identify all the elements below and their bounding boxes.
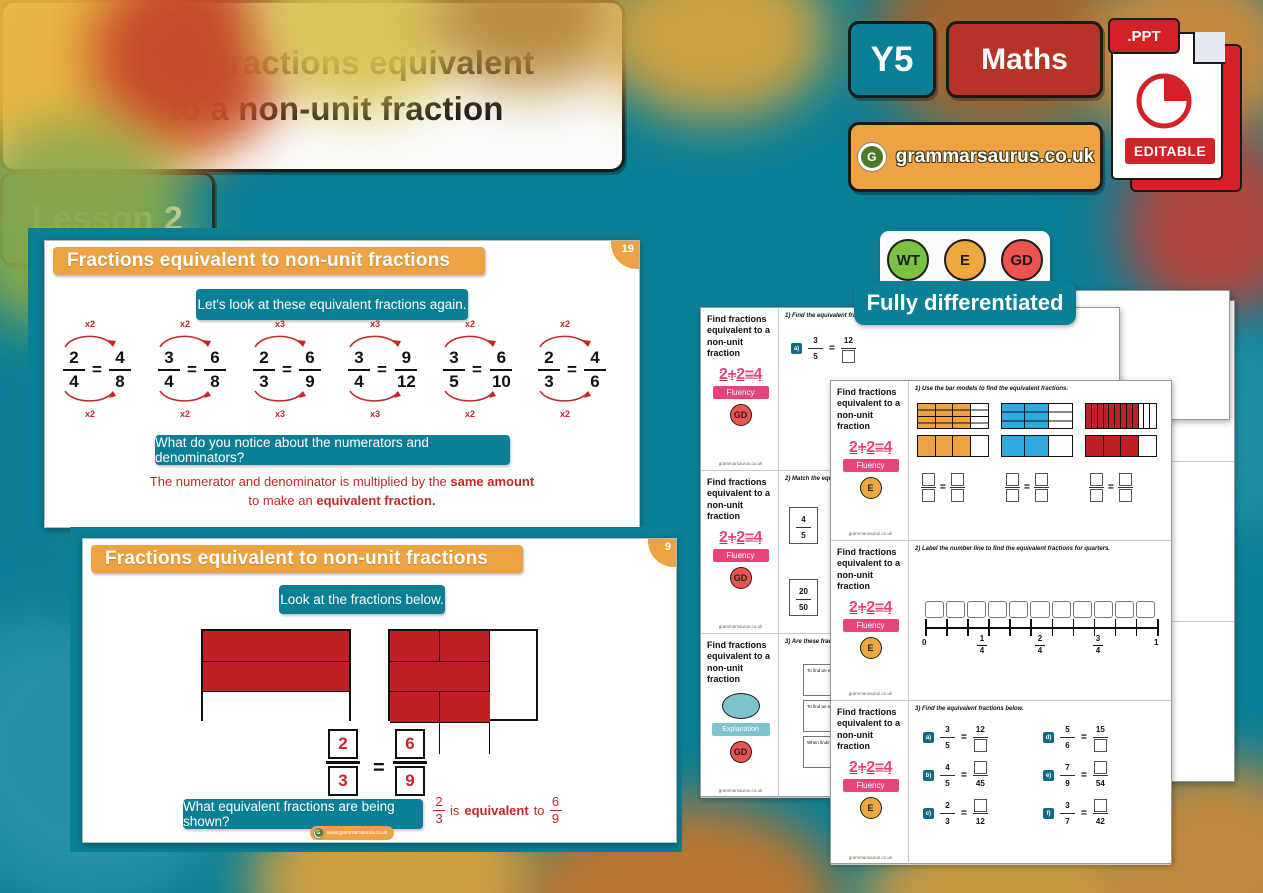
- exercise-fraction-left-numerator: 4: [945, 761, 949, 774]
- number-line-box[interactable]: [1115, 601, 1134, 618]
- worksheet-title-line3: non-unit fraction: [837, 410, 904, 433]
- slide2-question-text: What equivalent fractions are being show…: [183, 799, 423, 829]
- answer-l1b: same amount: [450, 474, 534, 489]
- fraction-equation: 23=69: [253, 349, 321, 391]
- answer-fraction-right-numerator-box[interactable]: [951, 473, 964, 486]
- fraction-left-denominator: 3: [541, 373, 556, 391]
- number-line-tick: [1052, 619, 1054, 636]
- answer-l2a: to make an: [248, 493, 316, 508]
- worksheet-title-line1: Find fractions: [707, 640, 767, 651]
- number-line-tick: [925, 619, 927, 636]
- answer-fraction-left-denominator-box[interactable]: [922, 489, 935, 502]
- fraction-equation: 34=912: [348, 349, 419, 391]
- fluency-tag: Fluency: [843, 619, 899, 632]
- number-line-fraction: 24: [1035, 635, 1045, 656]
- fraction-equation: 34=68: [158, 349, 226, 391]
- match-fraction-b-value-bar: [796, 599, 811, 600]
- bar-cell: [1139, 436, 1156, 456]
- bar-cell: [390, 631, 440, 662]
- answer-fraction-left-numerator-box[interactable]: [1006, 473, 1019, 486]
- exercise-fraction-left-denominator: 6: [1065, 739, 1069, 752]
- bar-cell: [1104, 436, 1122, 456]
- slide2-prompt-text: Look at the fractions below.: [280, 592, 444, 607]
- fraction-right-numerator: 4: [587, 349, 602, 367]
- worksheet-equation-art: 2+2=4: [849, 599, 892, 617]
- exercise-fraction-right: 12: [973, 799, 988, 828]
- exercise-fraction-left: 45: [940, 761, 955, 790]
- bar-model-right: [388, 629, 538, 721]
- worksheet-header-panel: Find fractionsequivalent to anon-unit fr…: [701, 634, 779, 797]
- fraction-left-bar: [253, 369, 275, 371]
- exercise-fraction-left-bar: [940, 737, 955, 738]
- number-line-box[interactable]: [967, 601, 986, 618]
- answer-group: =: [921, 473, 965, 502]
- bar-cell: [1025, 404, 1048, 428]
- fraction-right-numerator: 9: [399, 349, 414, 367]
- worksheet-title-line2: equivalent to a: [707, 325, 770, 336]
- number-line-box[interactable]: [1052, 601, 1071, 618]
- match-fraction-b-value-denominator: 50: [799, 601, 808, 614]
- number-line-tick: [1073, 619, 1075, 636]
- exercise-label: e): [1043, 770, 1054, 781]
- equals-sign: =: [961, 732, 967, 743]
- number-line-label: 1: [1154, 638, 1158, 647]
- worksheet-row: Find fractionsequivalent to anon-unit fr…: [831, 701, 1171, 865]
- equals-sign: =: [1081, 808, 1087, 819]
- exercise-fraction-right-numerator: 12: [844, 334, 853, 347]
- number-line-box[interactable]: [925, 601, 944, 618]
- match-fraction-a-value: 45: [796, 513, 811, 542]
- exercise-fraction-right: 12: [841, 334, 856, 363]
- exercise-fraction-left-bar: [940, 813, 955, 814]
- number-line-box[interactable]: [946, 601, 965, 618]
- level-coin-GD: GD: [730, 741, 752, 763]
- fraction-left-bar: [348, 369, 370, 371]
- exercise-fraction-right: 15: [1093, 723, 1108, 752]
- answer-fraction-right-bar: [1034, 487, 1049, 488]
- bar-cell: [1121, 436, 1139, 456]
- exercise-fraction-right-numerator-box[interactable]: [1094, 799, 1107, 812]
- worksheet-content: 2) Label the number line to find the equ…: [909, 541, 1171, 700]
- fraction-right-numerator: 4: [112, 349, 127, 367]
- fraction-left-numerator: 3: [351, 349, 366, 367]
- worksheet-title-line3: non-unit fraction: [837, 570, 904, 593]
- fraction-left-bar: [63, 369, 85, 371]
- bar-cell: [1150, 404, 1156, 428]
- worksheet-question-text: 2) Label the number line to find the equ…: [915, 546, 1165, 552]
- fraction-right-denominator: 12: [394, 373, 419, 391]
- fraction-right: 68: [204, 349, 226, 391]
- fraction-equation: 35=610: [443, 349, 514, 391]
- fraction-left-denominator: 4: [66, 373, 81, 391]
- worksheet-footer-brand: grammarsaurus.co.uk: [719, 788, 763, 793]
- fluency-tag: Fluency: [843, 779, 899, 792]
- year-group-label: Y5: [871, 40, 914, 80]
- numerator: 2: [1038, 635, 1042, 644]
- answer-fraction-left: [1005, 473, 1020, 502]
- fraction-left-denominator: 4: [161, 373, 176, 391]
- answer-fraction-left-numerator: 2: [435, 795, 442, 809]
- slide-preview-19[interactable]: Fractions equivalent to non-unit fractio…: [44, 240, 640, 528]
- exercise-fraction-right: 42: [1093, 799, 1108, 828]
- fraction-equation: 23=46: [538, 349, 606, 391]
- footer-logo-icon: G: [313, 828, 324, 839]
- exercise-fraction-right-numerator: 12: [976, 723, 985, 736]
- fraction-right-numerator: 6: [494, 349, 509, 367]
- exercise-fraction-right: 45: [973, 761, 988, 790]
- answer-fraction-right-bar: [950, 487, 965, 488]
- fraction-left-denominator: 4: [351, 373, 366, 391]
- bar-cell: [1002, 436, 1025, 456]
- exercise-item: c)23=12: [923, 799, 988, 828]
- answer-fraction-right-denominator-box[interactable]: [1119, 489, 1132, 502]
- exercise-fraction-left: 35: [940, 723, 955, 752]
- subject-badge: Maths: [946, 21, 1103, 98]
- fraction-left: 23: [538, 349, 560, 391]
- exercise-fraction-right-numerator-box[interactable]: [974, 799, 987, 812]
- multiplier-top: x2: [560, 319, 570, 329]
- exercise-fraction-left-numerator: 3: [1065, 799, 1069, 812]
- exercise-fraction-left: 37: [1060, 799, 1075, 828]
- slide1-prompt-text: Let's look at these equivalent fractions…: [198, 297, 467, 312]
- answer-fraction-right-numerator: 6: [552, 795, 559, 809]
- bar-cell: [203, 662, 349, 693]
- number-line-box[interactable]: [1009, 601, 1028, 618]
- exercise-fraction-left-numerator: 3: [945, 723, 949, 736]
- answer-fraction-right-denominator-box[interactable]: [1035, 489, 1048, 502]
- worksheet-question-text: 3) Find the equivalent fractions below.: [915, 706, 1165, 712]
- number-line-box[interactable]: [1094, 601, 1113, 618]
- worksheet-footer-brand: grammarsaurus.co.uk: [719, 624, 763, 629]
- exercise-item: e)79=54: [1043, 761, 1108, 790]
- worksheet-content: 3) Find the equivalent fractions below.a…: [909, 701, 1171, 864]
- bar-cell: [971, 404, 988, 428]
- exercise-fraction-right-denominator: 12: [976, 815, 985, 828]
- worksheet-content: 1) Use the bar models to find the equiva…: [909, 381, 1171, 540]
- fraction-right: 610: [489, 349, 514, 391]
- level-coin-E: E: [860, 797, 882, 819]
- answer-l1a: The numerator and denominator is multipl…: [150, 474, 451, 489]
- fluency-tag: Fluency: [713, 386, 769, 399]
- equals-sign: =: [940, 482, 946, 493]
- bar-cell: [1049, 404, 1072, 428]
- worksheet-equation-art: 2+2=4: [719, 529, 762, 547]
- level-badge-WT: WT: [887, 239, 929, 281]
- worksheet-title-line3: non-unit fraction: [837, 730, 904, 753]
- number-line-tick: [946, 619, 948, 636]
- slide1-question-text: What do you notice about the numerators …: [155, 435, 510, 465]
- slide2-prompt: Look at the fractions below.: [279, 585, 445, 614]
- number-line-tick: [1030, 619, 1032, 636]
- exercise-fraction-left-bar: [940, 775, 955, 776]
- exercise-fraction-right-bar: [973, 775, 988, 776]
- equals-sign: =: [1024, 482, 1030, 493]
- bar-cell: [953, 436, 971, 456]
- multiplier-top: x2: [465, 319, 475, 329]
- bar-cell: [440, 692, 490, 723]
- equals-sign: =: [961, 808, 967, 819]
- exercise-fraction-left-denominator: 5: [945, 739, 949, 752]
- bar-cell: [918, 404, 936, 428]
- worksheet-title-line1: Find fractions: [707, 314, 767, 325]
- differentiation-label: Fully differentiated: [867, 290, 1064, 316]
- worksheet-equation-art: 2+2=4: [719, 366, 762, 384]
- answer-fraction-left-bar: [1005, 487, 1020, 488]
- answer-fraction-right-numerator-box[interactable]: [1035, 473, 1048, 486]
- slide1-answer: The numerator and denominator is multipl…: [45, 473, 639, 511]
- bar-model: [1085, 403, 1157, 429]
- exercise-fraction-right-denominator: 54: [1096, 777, 1105, 790]
- slide2-title: Fractions equivalent to non-unit fractio…: [105, 548, 488, 570]
- number-line-box[interactable]: [1030, 601, 1049, 618]
- slide1-page-corner: 19: [611, 241, 639, 269]
- exercise-fraction-left-numerator: 7: [1065, 761, 1069, 774]
- bar-cell: [390, 692, 440, 723]
- fraction-right-bar: [109, 369, 131, 371]
- multiplier-bottom: x3: [275, 409, 285, 419]
- fraction-right-denominator: 6: [587, 373, 602, 391]
- exercise-fraction-left-denominator: 3: [945, 815, 949, 828]
- answer-fraction-right: [950, 473, 965, 502]
- number-line-label: 0: [922, 638, 926, 647]
- equals-sign: =: [282, 360, 292, 380]
- fraction-right-bar: [490, 369, 512, 371]
- exercise-fraction-left-bar: [1060, 813, 1075, 814]
- slide2-answer: 23is equivalent to69: [433, 795, 562, 826]
- slide2-question: What equivalent fractions are being show…: [183, 799, 423, 829]
- number-line-tick: [1094, 619, 1096, 636]
- differentiation-label-pill: Fully differentiated: [854, 281, 1076, 325]
- exercise-item: d)56=15: [1043, 723, 1108, 752]
- worksheet-header-panel: Find fractionsequivalent to anon-unit fr…: [831, 381, 909, 540]
- match-fraction-b: 2050: [789, 579, 818, 616]
- level-badge-GD: GD: [1001, 239, 1043, 281]
- exercise-fraction-right-denominator-box[interactable]: [974, 739, 987, 752]
- answer-fraction-left: [921, 473, 936, 502]
- exercise-fraction-right-numerator: 15: [1096, 723, 1105, 736]
- slide-preview-9[interactable]: Fractions equivalent to non-unit fractio…: [82, 538, 677, 843]
- boxed-fraction-left: 23: [326, 729, 360, 796]
- bar-model: [1085, 435, 1157, 457]
- exercise-fraction-right-denominator-box[interactable]: [842, 350, 855, 363]
- fraction-left-denominator: 5: [446, 373, 461, 391]
- exercise-item: b)45=45: [923, 761, 988, 790]
- fraction-right-bar: [584, 369, 606, 371]
- slide1-title-banner: Fractions equivalent to non-unit fractio…: [53, 247, 485, 275]
- fraction-right: 48: [109, 349, 131, 391]
- boxed-fraction-right-bar: [393, 761, 427, 764]
- answer-fraction-right: [1034, 473, 1049, 502]
- answer-fraction-left-denominator-box[interactable]: [1090, 489, 1103, 502]
- worksheet-footer-brand: grammarsaurus.co.uk: [849, 691, 893, 696]
- fraction-right: 912: [394, 349, 419, 391]
- answer-fraction-left-numerator-box[interactable]: [922, 473, 935, 486]
- fraction-left-bar: [443, 369, 465, 371]
- slide2-page-corner: 9: [648, 539, 676, 567]
- bar-cell: [1086, 436, 1104, 456]
- answer-pre: is: [450, 803, 459, 818]
- worksheet-differentiated-e[interactable]: Find fractionsequivalent to anon-unit fr…: [830, 380, 1172, 864]
- exercise-label: b): [923, 770, 934, 781]
- file-icon-fold: [1193, 32, 1225, 64]
- boxed-fraction-left-denominator: 3: [328, 766, 358, 796]
- fraction-right: 69: [299, 349, 321, 391]
- bar-cell: [936, 404, 954, 428]
- equals-sign: =: [1081, 770, 1087, 781]
- boxed-fraction-left-bar: [326, 761, 360, 764]
- grammarsaurus-logo-icon: G: [857, 142, 887, 172]
- answer-fraction-left-denominator-box[interactable]: [1006, 489, 1019, 502]
- worksheet-header-panel: Find fractionsequivalent to anon-unit fr…: [831, 701, 909, 864]
- slide2-equals-sign: =: [373, 757, 385, 780]
- exercise-fraction-left-denominator: 5: [945, 777, 949, 790]
- number-line-box[interactable]: [1136, 601, 1155, 618]
- pie-chart-icon: [1133, 68, 1203, 130]
- bar-model: [1001, 435, 1073, 457]
- exercise-fraction-left-bar: [808, 348, 823, 349]
- exercise-fraction-right-denominator: 45: [976, 777, 985, 790]
- worksheet-footer-brand: grammarsaurus.co.uk: [849, 855, 893, 860]
- boxed-fraction-right-numerator: 6: [395, 729, 425, 759]
- exercise-fraction-right-numerator-box[interactable]: [974, 761, 987, 774]
- equals-sign: =: [829, 343, 835, 354]
- fraction-left-bar: [158, 369, 180, 371]
- fraction-right-bar: [299, 369, 321, 371]
- subject-label: Maths: [981, 43, 1068, 77]
- multiplier-bottom: x2: [560, 409, 570, 419]
- match-fraction-b-value-numerator: 20: [799, 585, 808, 598]
- fraction-right-bar: [395, 369, 417, 371]
- fluency-tag: Fluency: [713, 549, 769, 562]
- level-coin-E: E: [860, 637, 882, 659]
- fraction-left-numerator: 2: [541, 349, 556, 367]
- bar-cell: [203, 631, 349, 662]
- fraction-left: 34: [348, 349, 370, 391]
- multiplier-bottom: x3: [370, 409, 380, 419]
- answer-fraction-right-numerator-box[interactable]: [1119, 473, 1132, 486]
- worksheet-title-line2: equivalent to a: [837, 718, 900, 729]
- worksheet-equation-art: 2+2=4: [849, 439, 892, 457]
- fraction-right-bar: [204, 369, 226, 371]
- number-line-box[interactable]: [988, 601, 1007, 618]
- slide1-question: What do you notice about the numerators …: [155, 435, 510, 465]
- exercise-fraction-right-denominator-box[interactable]: [1094, 739, 1107, 752]
- fraction-left-numerator: 3: [161, 349, 176, 367]
- fraction-right-denominator: 9: [302, 373, 317, 391]
- brand-label: grammarsaurus.co.uk: [896, 146, 1095, 168]
- answer-fraction-right-bar: [1118, 487, 1133, 488]
- bar-model: [1001, 403, 1073, 429]
- bar-cell: [936, 436, 954, 456]
- worksheet-title-line1: Find fractions: [837, 707, 897, 718]
- worksheet-equation-art: 2+2=4: [849, 759, 892, 777]
- slide2-footer-text: www.grammarsaurus.co.uk: [327, 830, 387, 836]
- numerator: 1: [980, 635, 984, 644]
- multiplier-top: x3: [370, 319, 380, 329]
- equals-sign: =: [961, 770, 967, 781]
- worksheet-title-line1: Find fractions: [837, 547, 897, 558]
- exercise-label: f): [1043, 808, 1054, 819]
- answer-fraction-left-numerator-box[interactable]: [1090, 473, 1103, 486]
- number-line-box[interactable]: [1073, 601, 1092, 618]
- bar-cell: [971, 436, 988, 456]
- fraction-right-numerator: 6: [302, 349, 317, 367]
- exercise-fraction-right: 12: [973, 723, 988, 752]
- number-line-fraction: 34: [1093, 635, 1103, 656]
- worksheet-title-line1: Find fractions: [837, 387, 897, 398]
- exercise-item: f)37=42: [1043, 799, 1108, 828]
- fraction-right-denominator: 10: [489, 373, 514, 391]
- exercise-fraction-left: 23: [940, 799, 955, 828]
- exercise-fraction-left-numerator: 3: [813, 334, 817, 347]
- exercise-label: c): [923, 808, 934, 819]
- exercise-item: a)35=12: [791, 334, 856, 363]
- equals-sign: =: [92, 360, 102, 380]
- answer-fraction-right-denominator: 9: [552, 812, 559, 826]
- fraction-equation: 24=48: [63, 349, 131, 391]
- slide1-prompt: Let's look at these equivalent fractions…: [196, 289, 468, 320]
- answer-fraction-left-bar: [1089, 487, 1104, 488]
- boxed-fraction-right: 69: [393, 729, 427, 796]
- exercise-fraction-right-bar: [841, 348, 856, 349]
- worksheet-title-line2: equivalent to a: [707, 488, 770, 499]
- equals-sign: =: [1108, 482, 1114, 493]
- multiplier-bottom: x2: [180, 409, 190, 419]
- fraction-left: 34: [158, 349, 180, 391]
- fraction-left: 24: [63, 349, 85, 391]
- worksheet-title-line2: equivalent to a: [837, 558, 900, 569]
- slide2-footer-logo: G www.grammarsaurus.co.uk: [310, 826, 394, 840]
- match-fraction-a-value-numerator: 4: [801, 513, 805, 526]
- worksheet-title-line3: non-unit fraction: [707, 337, 774, 360]
- slide1-page-number: 19: [622, 243, 634, 255]
- exercise-fraction-right-numerator-box[interactable]: [1094, 761, 1107, 774]
- match-fraction-b-value: 2050: [796, 585, 811, 614]
- slide2-page-number: 9: [665, 541, 671, 553]
- answer-fraction-right: [1118, 473, 1133, 502]
- answer-fraction-right-denominator-box[interactable]: [951, 489, 964, 502]
- exercise-fraction-right-bar: [1093, 775, 1108, 776]
- number-line-axis: [925, 627, 1157, 629]
- fraction-left-bar: [538, 369, 560, 371]
- answer-l2b: equivalent fraction.: [316, 493, 435, 508]
- exercise-fraction-left-denominator: 7: [1065, 815, 1069, 828]
- boxed-fraction-right-denominator: 9: [395, 766, 425, 796]
- bar-cell: [953, 404, 971, 428]
- fraction-left-numerator: 3: [446, 349, 461, 367]
- answer-group: =: [1005, 473, 1049, 502]
- answer-bold: equivalent: [464, 803, 528, 818]
- fraction-left-denominator: 3: [256, 373, 271, 391]
- boxed-fraction-left-numerator: 2: [328, 729, 358, 759]
- denominator: 4: [980, 647, 984, 656]
- numerator: 3: [1096, 635, 1100, 644]
- worksheet-row: Find fractionsequivalent to anon-unit fr…: [831, 381, 1171, 541]
- number-line-tick: [1115, 619, 1117, 636]
- equals-sign: =: [1081, 732, 1087, 743]
- worksheet-title-line2: equivalent to a: [707, 651, 770, 662]
- exercise-fraction-left: 79: [1060, 761, 1075, 790]
- equals-sign: =: [567, 360, 577, 380]
- worksheet-title-line2: equivalent to a: [837, 398, 900, 409]
- fraction-right-denominator: 8: [112, 373, 127, 391]
- bar-cell: [1049, 436, 1072, 456]
- file-type-label: .PPT: [1127, 28, 1160, 45]
- multiplier-top: x2: [85, 319, 95, 329]
- equals-sign: =: [187, 360, 197, 380]
- bar-cell: [1002, 404, 1025, 428]
- exercise-fraction-left-bar: [1060, 775, 1075, 776]
